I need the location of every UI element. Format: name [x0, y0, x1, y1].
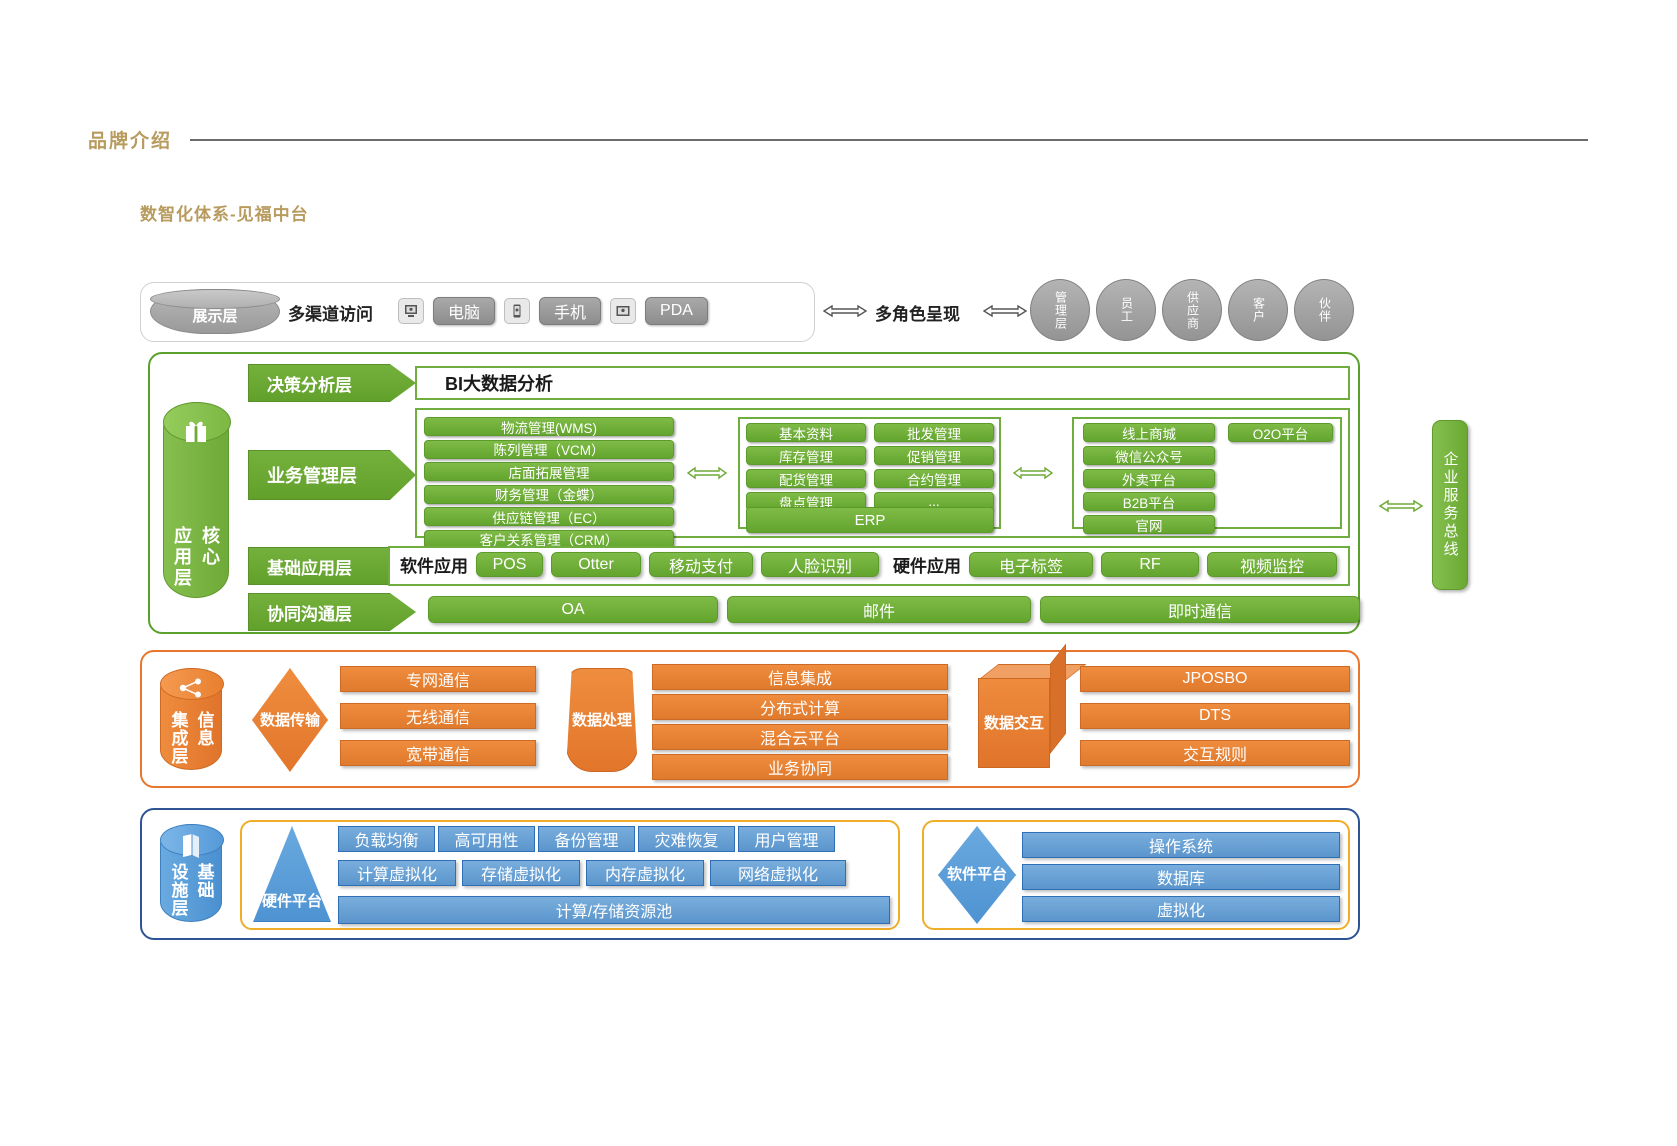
software-face-recognition[interactable]: 人脸识别	[761, 552, 879, 577]
chevron-business-layer[interactable]: 业务管理层	[248, 450, 416, 500]
transmission-broadband[interactable]: 宽带通信	[340, 740, 536, 766]
integration-layer-cylinder: 集成层 信息	[160, 668, 222, 770]
hw-load-balancing[interactable]: 负载均衡	[338, 826, 435, 852]
role-circle-customer[interactable]: 客户	[1228, 279, 1288, 341]
erp-inventory[interactable]: 库存管理	[746, 446, 866, 465]
esb-label: 企业服务总线	[1440, 451, 1461, 559]
device-chip-computer[interactable]: 电脑	[433, 297, 495, 325]
hardware-electronic-tag[interactable]: 电子标签	[969, 552, 1093, 577]
device-list: 电脑 手机 PDA	[398, 297, 708, 325]
hw-memory-virtualization[interactable]: 内存虚拟化	[586, 860, 704, 886]
module-supply-chain[interactable]: 供应链管理（EC）	[424, 507, 674, 526]
chevron-collaboration-layer[interactable]: 协同沟通层	[248, 593, 416, 631]
processing-distributed-computing[interactable]: 分布式计算	[652, 694, 948, 720]
multichannel-label: 多渠道访问	[288, 300, 373, 325]
integration-layer-label-right: 信息	[192, 711, 217, 765]
brand-label: 品牌介绍	[88, 126, 172, 153]
role-circle-list: 管理层 员工 供应商 客户 伙伴	[1030, 279, 1354, 341]
page-title: 数智化体系-见福中台	[140, 200, 309, 225]
collab-im[interactable]: 即时通信	[1040, 596, 1360, 623]
interaction-jposbo[interactable]: JPOSBO	[1080, 666, 1350, 692]
erp-promotion[interactable]: 促销管理	[874, 446, 994, 465]
role-circle-manager[interactable]: 管理层	[1030, 279, 1090, 341]
mobile-phone-icon	[504, 298, 530, 324]
hardware-video-surveillance[interactable]: 视频监控	[1207, 552, 1337, 577]
module-finance[interactable]: 财务管理（金蝶）	[424, 485, 674, 504]
hw-storage-virtualization[interactable]: 存储虚拟化	[462, 860, 580, 886]
infrastructure_layer-label-right: 基础	[192, 863, 217, 917]
hw-user-management[interactable]: 用户管理	[738, 826, 835, 852]
role-circle-supplier[interactable]: 供应商	[1162, 279, 1222, 341]
data-interaction-shape[interactable]: 数据交互	[978, 664, 1066, 768]
hardware-app-label: 硬件应用	[893, 552, 961, 577]
erp-distribution[interactable]: 配货管理	[746, 469, 866, 488]
hw-network-virtualization[interactable]: 网络虚拟化	[710, 860, 846, 886]
erp-col-right: 批发管理 促销管理 合约管理 ...	[874, 423, 994, 511]
software-mobile-payment[interactable]: 移动支付	[649, 552, 753, 577]
computer-icon	[398, 298, 424, 324]
bi-analytics-box[interactable]: BI大数据分析	[415, 366, 1350, 400]
channel-takeaway[interactable]: 外卖平台	[1083, 469, 1215, 488]
collab-oa[interactable]: OA	[428, 596, 718, 623]
interaction-rules[interactable]: 交互规则	[1080, 740, 1350, 766]
hw-backup-management[interactable]: 备份管理	[538, 826, 635, 852]
software-pos[interactable]: POS	[476, 552, 543, 577]
header-divider	[190, 139, 1588, 141]
sw-virtualization[interactable]: 虚拟化	[1022, 896, 1340, 922]
data-interaction-items: JPOSBO DTS 交互规则	[1080, 666, 1350, 766]
device-chip-pda[interactable]: PDA	[645, 297, 708, 325]
device-chip-mobile[interactable]: 手机	[539, 297, 601, 325]
erp-col-left: 基本资料 库存管理 配货管理 盘点管理	[746, 423, 866, 511]
hardware-rf[interactable]: RF	[1101, 552, 1199, 577]
hw-resource-pool[interactable]: 计算/存储资源池	[338, 896, 890, 924]
hardware-row-2: 计算虚拟化 存储虚拟化 内存虚拟化 网络虚拟化	[338, 860, 846, 886]
processing-info-integration[interactable]: 信息集成	[652, 664, 948, 690]
arrow-presentation-to-roles	[822, 302, 868, 320]
erp-wholesale[interactable]: 批发管理	[874, 423, 994, 442]
hw-compute-virtualization[interactable]: 计算虚拟化	[338, 860, 456, 886]
role-circle-partner[interactable]: 伙伴	[1294, 279, 1354, 341]
software-platform-items: 操作系统 数据库 虚拟化	[1022, 832, 1340, 922]
module-wms[interactable]: 物流管理(WMS)	[424, 417, 674, 436]
arrow-app-to-esb	[1378, 497, 1424, 515]
presentation-layer-cylinder: 展示层	[150, 289, 280, 334]
pda-icon	[610, 298, 636, 324]
data-processing-items: 信息集成 分布式计算 混合云平台 业务协同	[652, 664, 948, 780]
channels-col: 线上商城 微信公众号 外卖平台 B2B平台 官网	[1083, 423, 1215, 534]
erp-contract[interactable]: 合约管理	[874, 469, 994, 488]
channel-b2b[interactable]: B2B平台	[1083, 492, 1215, 511]
infrastructure-layer-cylinder: 设施层 基础	[160, 824, 222, 922]
interaction-dts[interactable]: DTS	[1080, 703, 1350, 729]
application-layer-label-left: 应用层	[169, 526, 195, 589]
software-otter[interactable]: Otter	[551, 552, 641, 577]
book-icon	[179, 833, 203, 864]
basic-app-items: 软件应用 POS Otter 移动支付 人脸识别 硬件应用 电子标签 RF 视频…	[400, 552, 1337, 577]
erp-basic-data[interactable]: 基本资料	[746, 423, 866, 442]
arrow-erp-to-channels	[1012, 465, 1054, 481]
module-store-expansion[interactable]: 店面拓展管理	[424, 462, 674, 481]
data-interaction-label: 数据交互	[978, 678, 1050, 768]
collab-mail[interactable]: 邮件	[727, 596, 1031, 623]
module-vcm[interactable]: 陈列管理（VCM）	[424, 440, 674, 459]
data-transmission-items: 专网通信 无线通信 宽带通信	[340, 666, 536, 766]
presentation-layer-label: 展示层	[192, 305, 237, 326]
application-layer-label-right: 核心	[197, 526, 223, 589]
application-layer-cylinder: 应用层 核心	[163, 402, 229, 598]
hw-disaster-recovery[interactable]: 灾难恢复	[638, 826, 735, 852]
channel-o2o-platform[interactable]: O2O平台	[1228, 423, 1333, 442]
processing-business-collaboration[interactable]: 业务协同	[652, 754, 948, 780]
transmission-wireless[interactable]: 无线通信	[340, 703, 536, 729]
transmission-private-network[interactable]: 专网通信	[340, 666, 536, 692]
channel-online-mall[interactable]: 线上商城	[1083, 423, 1215, 442]
channel-wechat-official[interactable]: 微信公众号	[1083, 446, 1215, 465]
gift-icon	[182, 417, 210, 450]
business-module-col1: 物流管理(WMS) 陈列管理（VCM） 店面拓展管理 财务管理（金蝶） 供应链管…	[424, 417, 674, 549]
software-app-label: 软件应用	[400, 552, 468, 577]
roles-label: 多角色呈现	[875, 300, 960, 325]
chevron-decision-layer[interactable]: 决策分析层	[248, 364, 416, 402]
arrow-roles-to-circles	[982, 302, 1028, 320]
share-nodes-icon	[178, 677, 204, 704]
page-header: 品牌介绍	[88, 126, 1588, 153]
arrow-col1-to-erp	[686, 465, 728, 481]
integration-layer-label-left: 集成层	[166, 711, 191, 765]
cube-side-face	[1050, 644, 1066, 754]
channel-official-site[interactable]: 官网	[1083, 515, 1215, 534]
infrastructure-layer-label-left: 设施层	[166, 863, 191, 917]
data-processing-shape[interactable]: 数据处理	[566, 668, 638, 772]
hardware-row-1: 负载均衡 高可用性 备份管理 灾难恢复 用户管理	[338, 826, 835, 852]
collaboration-items: OA 邮件 即时通信	[428, 596, 1360, 623]
sw-database[interactable]: 数据库	[1022, 864, 1340, 890]
role-circle-employee[interactable]: 员工	[1096, 279, 1156, 341]
processing-hybrid-cloud[interactable]: 混合云平台	[652, 724, 948, 750]
hw-high-availability[interactable]: 高可用性	[438, 826, 535, 852]
enterprise-service-bus[interactable]: 企业服务总线	[1432, 420, 1468, 590]
erp-footer-label[interactable]: ERP	[746, 507, 994, 533]
sw-operating-system[interactable]: 操作系统	[1022, 832, 1340, 858]
